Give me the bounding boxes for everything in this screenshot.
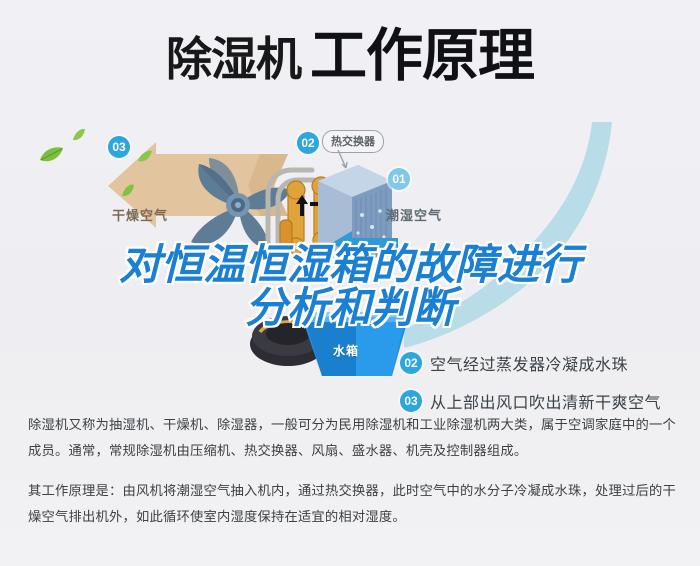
body-paragraph-1: 除湿机又称为抽湿机、干燥机、除湿器，一般可分为民用除湿机和工业除湿机两大类，属于…: [28, 412, 676, 464]
humid-air-inflow-arrow: [330, 230, 400, 256]
dehumidifier-diagram: 干燥空气 03: [0, 120, 700, 400]
legend-text-02: 空气经过蒸发器冷凝成水珠: [430, 351, 628, 375]
leaf-icon: [137, 150, 153, 163]
leaf-icon: [38, 146, 64, 164]
callout-tail-icon: [336, 150, 350, 174]
legend-badge-03: 03: [400, 390, 422, 412]
dry-air-label: 干燥空气: [112, 205, 168, 224]
article-body: 除湿机又称为抽湿机、干燥机、除湿器，一般可分为民用除湿机和工业除湿机两大类，属于…: [28, 412, 676, 544]
legend-badge-02: 02: [400, 352, 422, 374]
legend-text-03: 从上部出风口吹出清新干爽空气: [430, 389, 661, 413]
body-paragraph-2: 其工作原理是：由风机将潮湿空气抽入机内，通过热交换器，此时空气中的水分子冷凝成水…: [28, 478, 676, 530]
heat-exchanger-unit: [300, 155, 400, 275]
water-tank-label: 水箱: [333, 342, 359, 359]
legend-item-02: 02 空气经过蒸发器冷凝成水珠: [400, 344, 690, 382]
poster-canvas: 除湿机工作原理 干燥空气 03: [0, 0, 700, 566]
humid-air-label: 潮湿空气: [386, 205, 442, 224]
badge-02-heat-exchanger: 02: [297, 132, 319, 154]
leaf-icon: [120, 183, 135, 198]
title-part-two: 工作原理: [310, 24, 534, 88]
title-part-one: 除湿机: [166, 33, 301, 85]
leaf-icon: [72, 128, 86, 142]
legend-list: 01 由风机将潮湿空气抽入机内 02 空气经过蒸发器冷凝成水珠 03 从上部出风…: [400, 306, 690, 420]
badge-03-dry-air: 03: [108, 136, 130, 158]
badge-01-humid-air: 01: [388, 168, 410, 190]
heat-exchanger-callout: 热交换器: [322, 130, 384, 153]
page-title: 除湿机工作原理: [0, 28, 700, 85]
